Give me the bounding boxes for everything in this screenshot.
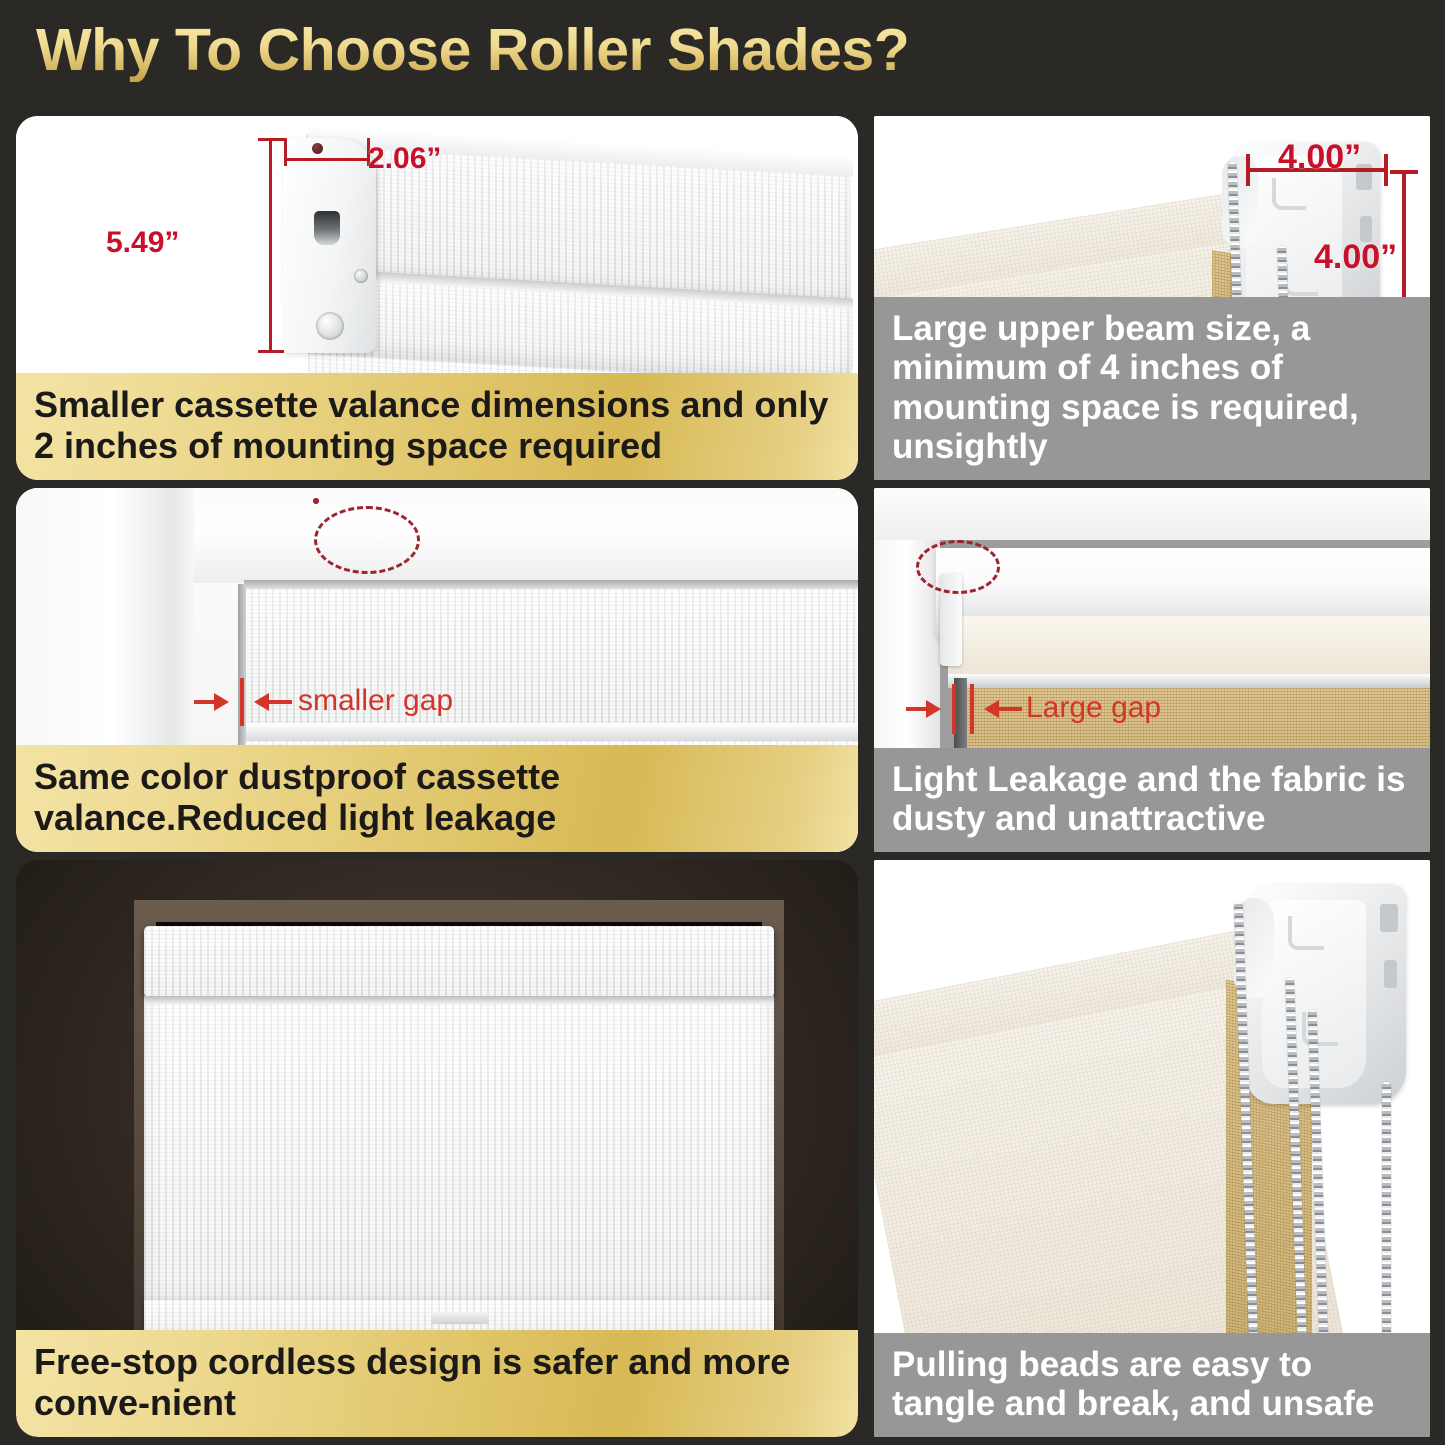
caption-text: Light Leakage and the fabric is dusty an… — [892, 760, 1414, 838]
height-dimension-label: 5.49” — [106, 226, 179, 260]
panel-cordless-design: Free-stop cordless design is safer and m… — [16, 860, 858, 1437]
beam-width-tick-right — [1384, 154, 1388, 186]
height-dimension-line — [269, 138, 272, 353]
gap-arrow-left-icon — [926, 700, 941, 718]
gap-arrow-right-stem — [996, 707, 1022, 711]
gap-arrow-left-stem — [194, 700, 216, 704]
ceiling-band — [874, 488, 1430, 540]
gap-indicator-bar — [240, 678, 244, 726]
gap-indicator-bar-b — [970, 684, 974, 734]
panel-caption: Light Leakage and the fabric is dusty an… — [874, 748, 1430, 852]
width-dimension-label: 2.06” — [368, 142, 441, 176]
panel-caption: Same color dustproof cassette valance.Re… — [16, 745, 858, 852]
height-dimension-tick-bottom — [258, 350, 284, 353]
caption-text: Smaller cassette valance dimensions and … — [34, 385, 842, 466]
panel-cassette-dimensions: 2.06” 5.49” Smaller cassette valance dim… — [16, 116, 858, 480]
bottom-rail-tab-icon — [431, 1312, 489, 1324]
caption-text: Pulling beads are easy to tangle and bre… — [892, 1345, 1414, 1423]
endcap-top-pin-icon — [312, 143, 323, 154]
bracket-wave-icon-upper — [1272, 178, 1306, 210]
gap-highlight-circle — [313, 498, 319, 504]
head-rail-groove — [144, 996, 774, 1004]
width-dimension-tick-left — [284, 138, 287, 166]
valance-top-edge — [244, 580, 858, 589]
page-title: Why To Choose Roller Shades? — [36, 20, 909, 82]
large-gap-label: Large gap — [1026, 691, 1161, 725]
top-gap-dashed-ellipse — [314, 506, 420, 574]
cassette-head-rail — [144, 926, 774, 998]
endcap-slot-icon — [314, 211, 340, 245]
gap-arrow-left-icon — [214, 693, 229, 711]
beam-height-tick-top — [1390, 170, 1418, 174]
width-dimension-line — [284, 158, 370, 161]
caption-text: Same color dustproof cassette valance.Re… — [34, 757, 842, 838]
panel-pulling-beads: Pulling beads are easy to tangle and bre… — [874, 860, 1430, 1437]
caption-text: Large upper beam size, a minimum of 4 in… — [892, 309, 1414, 466]
beam-width-tick-left — [1246, 154, 1250, 186]
bracket-wave-icon-upper — [1288, 916, 1324, 950]
panel-dustproof-valance: smaller gap Same color dustproof cassett… — [16, 488, 858, 852]
bracket-wave-icon-lower — [1284, 264, 1318, 296]
panel-caption: Pulling beads are easy to tangle and bre… — [874, 1333, 1430, 1437]
valance-mid-rail — [244, 723, 858, 741]
panel-light-leakage: Large gap Light Leakage and the fabric i… — [874, 488, 1430, 852]
bracket-mount-slot-lower-icon — [1384, 960, 1397, 988]
bracket-mount-slot-upper-icon — [1380, 904, 1398, 932]
bead-chain-right — [1382, 1082, 1391, 1374]
panel-caption: Large upper beam size, a minimum of 4 in… — [874, 297, 1430, 480]
comparison-grid: 2.06” 5.49” Smaller cassette valance dim… — [0, 108, 1445, 1445]
height-dimension-tick-top — [258, 138, 284, 141]
panel-caption: Free-stop cordless design is safer and m… — [16, 1330, 858, 1437]
panel-large-upper-beam: 4.00” 4.00” Large upper beam size, a min… — [874, 116, 1430, 480]
gap-arrow-left-stem — [906, 707, 928, 711]
valance-face-cream — [948, 616, 1430, 676]
shade-fabric-main — [144, 1004, 774, 1314]
endcap-lower-knob-icon — [316, 312, 344, 340]
window-frame-top — [194, 488, 858, 583]
top-gap-dashed-ellipse — [916, 540, 1000, 594]
beam-height-label: 4.00” — [1314, 238, 1397, 277]
panel-caption: Smaller cassette valance dimensions and … — [16, 373, 858, 480]
smaller-gap-label: smaller gap — [298, 684, 453, 718]
gap-arrow-right-stem — [266, 700, 292, 704]
endcap-screw-icon — [354, 269, 368, 283]
valance-bottom-lip — [948, 674, 1430, 688]
gap-indicator-bar-a — [952, 684, 956, 734]
infographic-page: Why To Choose Roller Shades? — [0, 0, 1445, 1445]
caption-text: Free-stop cordless design is safer and m… — [34, 1342, 842, 1423]
beam-width-label: 4.00” — [1278, 138, 1361, 177]
